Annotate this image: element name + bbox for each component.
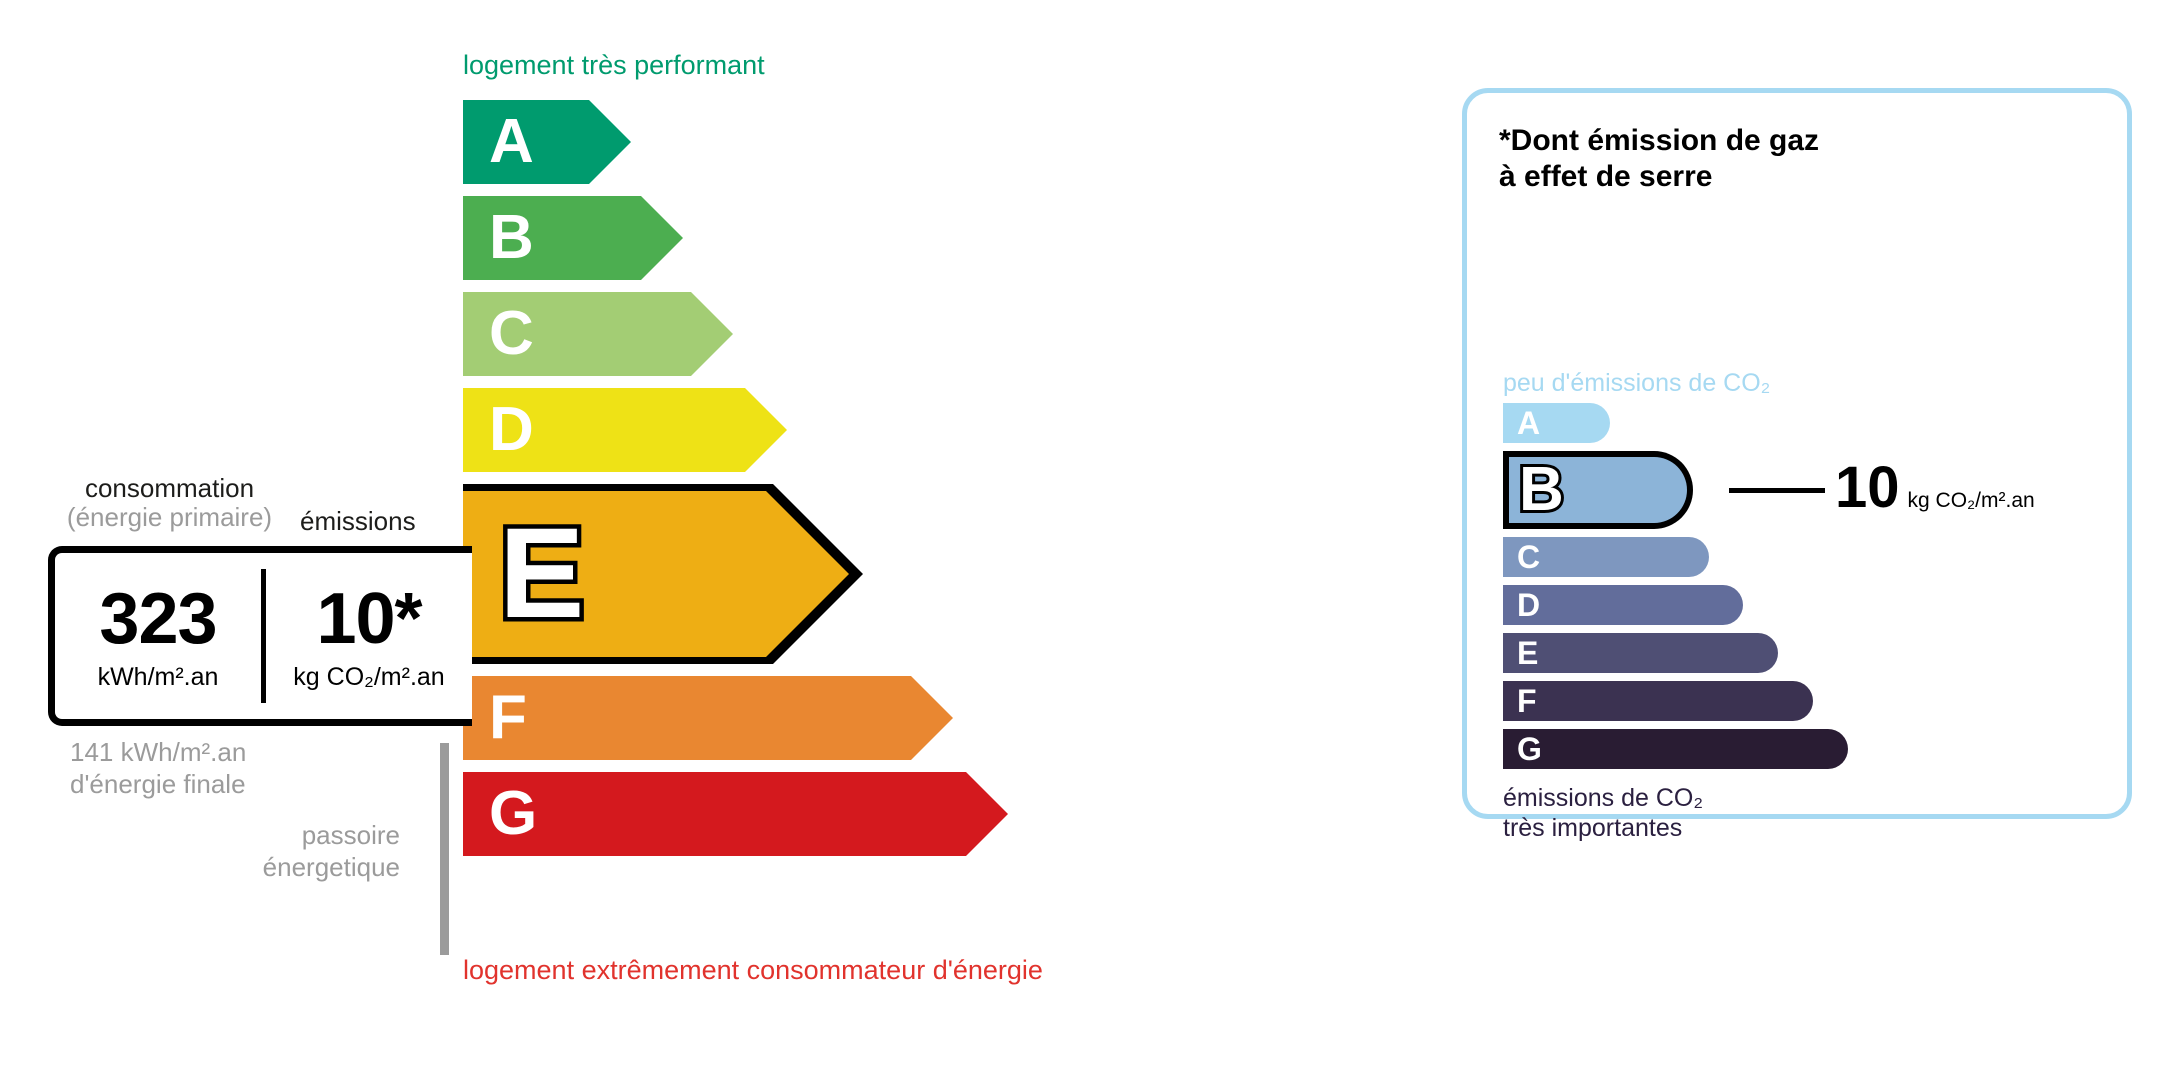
energy-band-shape xyxy=(463,772,1008,856)
co2-bar-shape xyxy=(1503,681,1813,721)
energy-band-shape xyxy=(463,676,953,760)
energy-band-letter: B xyxy=(489,207,534,269)
energy-top-caption: logement très performant xyxy=(463,50,765,81)
emission-number: 10* xyxy=(266,583,472,655)
energy-bottom-caption: logement extrêmement consommateur d'éner… xyxy=(463,955,1043,986)
co2-bottom-line-1: émissions de CO₂ xyxy=(1503,783,1703,813)
co2-value-unit: kg CO₂/m².an xyxy=(1908,489,2035,512)
emission-unit: kg CO₂/m².an xyxy=(266,665,472,690)
passoire-indicator-bar xyxy=(440,743,449,955)
co2-value-group: 10kg CO₂/m².an xyxy=(1835,459,2035,517)
energy-band-letter: G xyxy=(489,783,537,845)
consommation-label-main: consommation xyxy=(62,474,277,503)
energy-band-letter: A xyxy=(489,111,534,173)
co2-bar-letter: E xyxy=(1517,637,1538,669)
co2-bar-letter: B xyxy=(1519,459,1564,521)
co2-title-line-1: *Dont émission de gaz xyxy=(1499,123,1819,159)
co2-bar-letter: F xyxy=(1517,685,1537,717)
co2-bar-letter: A xyxy=(1517,407,1540,439)
co2-bottom-caption: émissions de CO₂ très importantes xyxy=(1503,783,1703,843)
co2-bottom-line-2: très importantes xyxy=(1503,813,1703,843)
co2-value-number: 10 xyxy=(1835,455,1900,520)
passoire-line-1: passoire xyxy=(180,820,400,852)
co2-top-caption: peu d'émissions de CO₂ xyxy=(1503,369,1770,398)
co2-leader-line xyxy=(1729,488,1825,493)
co2-bar-shape xyxy=(1503,729,1848,769)
energie-finale-value: 141 kWh/m².an xyxy=(70,737,246,769)
co2-bar-letter: C xyxy=(1517,541,1540,573)
passoire-energetique-label: passoire énergetique xyxy=(180,820,400,883)
consumption-number: 323 xyxy=(55,583,261,655)
energy-band-letter: E xyxy=(499,510,584,638)
consommation-label-sub: (énergie primaire) xyxy=(62,503,277,532)
consommation-label: consommation (énergie primaire) xyxy=(62,474,277,532)
consumption-unit: kWh/m².an xyxy=(55,665,261,690)
energy-value-box: 323 kWh/m².an 10* kg CO₂/m².an xyxy=(48,546,472,726)
co2-bar-letter: D xyxy=(1517,589,1540,621)
energie-finale-label: 141 kWh/m².an d'énergie finale xyxy=(70,737,246,800)
passoire-line-2: énergetique xyxy=(180,852,400,884)
emission-value-cell: 10* kg CO₂/m².an xyxy=(266,583,472,690)
emissions-label: émissions xyxy=(300,506,416,537)
co2-bar-shape xyxy=(1503,633,1778,673)
energy-performance-chart: logement très performant ABCDEFG logemen… xyxy=(0,0,1320,1079)
consumption-value-cell: 323 kWh/m².an xyxy=(55,583,261,690)
co2-panel-title: *Dont émission de gaz à effet de serre xyxy=(1499,123,1819,195)
energie-finale-sub: d'énergie finale xyxy=(70,769,246,801)
co2-emissions-panel: *Dont émission de gaz à effet de serre p… xyxy=(1462,88,2132,819)
energy-band-letter: F xyxy=(489,687,527,749)
energy-band-letter: D xyxy=(489,399,534,461)
co2-bar-letter: G xyxy=(1517,733,1542,765)
energy-band-letter: C xyxy=(489,303,534,365)
co2-title-line-2: à effet de serre xyxy=(1499,159,1819,195)
